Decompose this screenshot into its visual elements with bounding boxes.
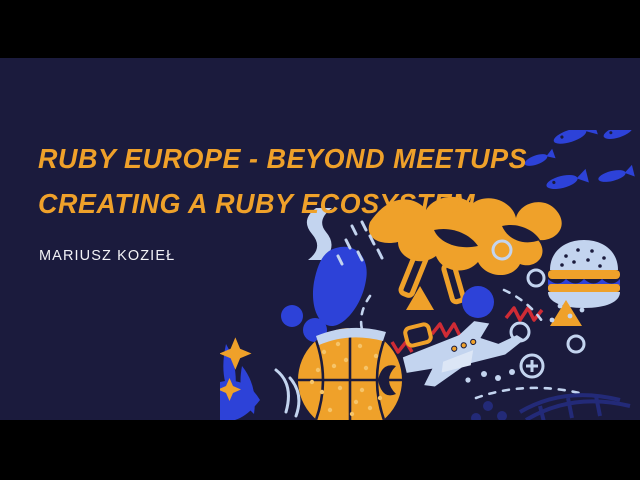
speaker-name: MARIUSZ KOZIEŁ — [39, 248, 175, 264]
title-line-2: CREATING A RUBY ECOSYSTEM — [38, 181, 527, 226]
airplane-icon — [398, 310, 529, 392]
grid-net-icon — [520, 395, 630, 420]
blue-circle-icon — [281, 305, 303, 327]
orange-square-icon — [404, 323, 432, 346]
title-line-1: RUBY EUROPE - BEYOND MEETUPS — [38, 136, 527, 181]
letterbox-top — [0, 0, 640, 58]
blue-circle-icon — [462, 286, 494, 318]
title-block: RUBY EUROPE - BEYOND MEETUPS CREATING A … — [38, 136, 547, 227]
plus-circle-icon — [521, 355, 543, 377]
video-frame: RUBY EUROPE - BEYOND MEETUPS CREATING A … — [0, 0, 640, 480]
burger-icon — [548, 240, 620, 308]
dark-dot-cluster-icon — [471, 401, 507, 420]
letterbox-bottom — [0, 420, 640, 480]
presentation-slide: RUBY EUROPE - BEYOND MEETUPS CREATING A … — [0, 58, 640, 420]
